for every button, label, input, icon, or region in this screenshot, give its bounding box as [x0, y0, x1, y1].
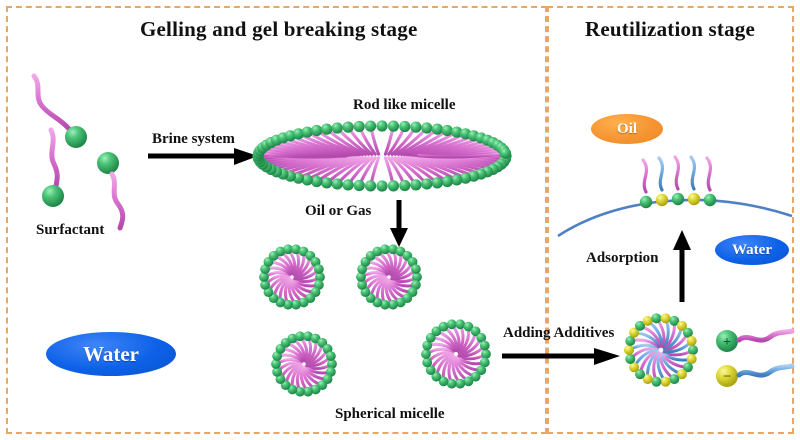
legend-charges: + −	[714, 328, 796, 390]
mixed-micelle	[623, 312, 699, 388]
micelle-head	[388, 121, 399, 132]
micelle-head	[421, 178, 432, 189]
oil-or-gas-label: Oil or Gas	[305, 203, 371, 220]
surfactant-head	[42, 185, 64, 207]
spherical-micelle	[420, 318, 492, 390]
micelle-head	[411, 264, 421, 274]
micelle-head	[314, 264, 324, 274]
micelle-head	[643, 316, 653, 326]
surfactant-tail	[112, 174, 123, 228]
spherical-micelle-label: Spherical micelle	[335, 406, 445, 423]
micelle-head	[376, 180, 387, 191]
micelle-head	[442, 125, 453, 136]
micelle-head	[311, 176, 322, 187]
micelle-head	[651, 313, 661, 323]
adsorbed-head	[656, 194, 668, 206]
micelle-head	[442, 176, 453, 187]
adsorbed-tail	[643, 160, 646, 192]
micelle-head	[321, 124, 332, 135]
adsorbed-head	[688, 193, 700, 205]
brine-system-arrow	[146, 148, 262, 166]
micelle-head	[432, 177, 443, 188]
surfactant-tail	[51, 130, 57, 186]
adding-additives-arrow	[500, 348, 622, 366]
micelle-head	[625, 354, 635, 364]
rod-like-micelle	[248, 118, 516, 198]
rod-like-micelle-label: Rod like micelle	[353, 97, 455, 114]
spherical-micelle	[270, 330, 338, 398]
surfactant-tail	[34, 76, 70, 130]
water-tag-left: Water	[46, 332, 176, 376]
micelle-head	[342, 179, 353, 190]
micelle-head	[669, 374, 679, 384]
micelle-head	[651, 377, 661, 387]
adsorbed-tail	[691, 157, 694, 189]
micelle-head	[326, 351, 336, 361]
micelle-head	[302, 126, 313, 137]
micelle-head	[661, 377, 671, 387]
adsorbed-layer-group	[556, 140, 796, 248]
micelle-head	[447, 319, 457, 329]
oil-or-gas-arrow	[389, 200, 409, 248]
oil-water-interface-arc	[558, 200, 792, 236]
surfactant-label: Surfactant	[36, 222, 104, 239]
micelle-head	[432, 124, 443, 135]
micelle-head	[688, 345, 698, 355]
legend-minus-sign: −	[723, 369, 732, 385]
right-panel-title: Reutilization stage	[585, 17, 755, 42]
surfactant-head	[97, 152, 119, 174]
spherical-micelle	[258, 243, 326, 311]
micelle-head	[354, 180, 365, 191]
micelle-head	[661, 313, 671, 323]
micelle-head	[376, 120, 387, 131]
left-panel-title: Gelling and gel breaking stage	[140, 17, 417, 42]
micelle-head	[399, 121, 410, 132]
micelle-head	[422, 358, 432, 368]
micelle-head	[321, 177, 332, 188]
micelle-head	[421, 122, 432, 133]
micelle-head	[480, 341, 490, 351]
micelle-head	[500, 148, 511, 159]
micelle-head	[455, 379, 465, 389]
legend-blue-tail	[739, 366, 792, 375]
micelle-head	[687, 336, 697, 346]
legend-pink-tail	[739, 331, 792, 340]
adding-additives-label: Adding Additives	[503, 325, 614, 342]
micelle-head	[399, 180, 410, 191]
micelle-head	[365, 121, 376, 132]
micelle-head	[342, 122, 353, 133]
adsorption-label: Adsorption	[586, 250, 659, 267]
micelle-head	[451, 174, 462, 185]
micelle-head	[481, 349, 491, 359]
adsorbed-tail	[707, 158, 710, 190]
adsorbed-head	[640, 196, 652, 208]
adsorbed-tail	[675, 157, 678, 189]
micelle-head	[354, 121, 365, 132]
brine-system-label: Brine system	[152, 131, 235, 148]
micelle-head	[388, 180, 399, 191]
micelle-head	[410, 179, 421, 190]
spherical-micelle	[355, 243, 423, 311]
micelle-head	[311, 125, 322, 136]
micelle-head	[624, 345, 634, 355]
micelle-head	[421, 349, 431, 359]
adsorbed-head	[672, 193, 684, 205]
surfactant-head	[65, 126, 87, 148]
micelle-head	[365, 180, 376, 191]
adsorbed-head	[704, 194, 716, 206]
diagram-canvas: Gelling and gel breaking stage Reutiliza…	[0, 0, 800, 440]
legend-plus-sign: +	[723, 335, 731, 350]
micelle-head	[332, 178, 343, 189]
micelle-head	[410, 122, 421, 133]
micelle-head	[332, 122, 343, 133]
adsorbed-tail	[659, 158, 662, 190]
